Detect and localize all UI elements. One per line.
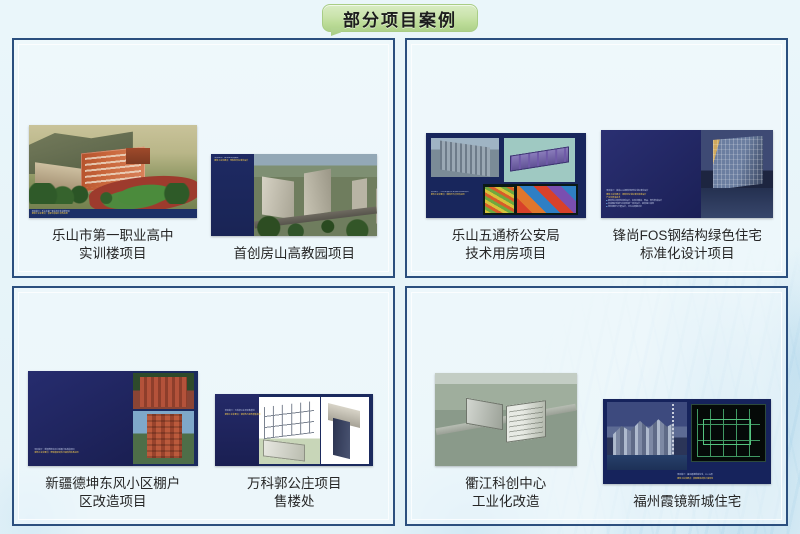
project-item[interactable]: 项目简介：乐山五通桥公安局技术用房项目 建筑工业化要点：钢结构节点分析应用 乐山… [418, 133, 594, 263]
project-item[interactable]: 项目简介：新疆德坤东风小区棚户区改造项目 建筑工业化要点：预制装配式剪力墙结构体… [25, 371, 201, 511]
project-item[interactable]: 项目概况：首创房山高教园 建筑工业化要点：预制构件标准化设计 首创房山高教园项目 [207, 154, 383, 263]
project-caption: 万科郭公庄项目 售楼处 [247, 475, 342, 511]
residential-photo-bottom [133, 411, 194, 464]
thumbnail-overlay-caption: 项目简介：万科郭公庄项目售楼处 建筑工业化要点：钢结构与组合楼板体系 [225, 410, 364, 417]
thumbnail-overlay-caption: 项目简介：乐山市第一职业高中实训楼项目 建筑工业化要点：装配式混凝土结构应用 [29, 209, 197, 219]
composite-beam-render [321, 397, 368, 463]
project-card-top-left[interactable]: 项目简介：乐山市第一职业高中实训楼项目 建筑工业化要点：装配式混凝土结构应用 乐… [12, 38, 395, 278]
xinjiang-dekun-dongfeng-shantytown-renovation-thumbnail[interactable]: 项目简介：新疆德坤东风小区棚户区改造项目 建筑工业化要点：预制装配式剪力墙结构体… [28, 371, 198, 466]
project-item[interactable]: 项目简介：锋尚FOS钢结构绿色住宅标准化设计 建筑工业化要点：钢结构住宅标准化体… [600, 130, 776, 263]
page-title: 部分项目案例 [343, 6, 457, 31]
project-item[interactable]: 项目简介：万科郭公庄项目售楼处 建筑工业化要点：钢结构与组合楼板体系 万科郭公庄… [207, 394, 383, 511]
tree-layer [29, 183, 197, 203]
crane-icon [672, 403, 674, 454]
vegetation-layer [254, 208, 377, 236]
school-training-building-rendering-thumbnail[interactable]: 项目简介：乐山市第一职业高中实训楼项目 建筑工业化要点：装配式混凝土结构应用 [29, 125, 197, 218]
steel-frame-3d-model-quadrant [504, 138, 574, 182]
project-card-bottom-right[interactable]: 衢江科创中心 工业化改造 项目简介：福州霞镜新城住宅，23~33层 建筑工业化要… [405, 286, 788, 526]
residential-skyline-photo [607, 402, 688, 470]
thumbnail-overlay-caption: 项目简介：福州霞镜新城住宅，23~33层 建筑工业化要点：装配整体式剪力墙结构 [677, 474, 766, 480]
quzhou-innovation-center-aerial-rendering-thumbnail[interactable] [435, 373, 577, 466]
fuzhou-xiajing-newtown-residence-cad-thumbnail[interactable]: 项目简介：福州霞镜新城住宅，23~33层 建筑工业化要点：装配整体式剪力墙结构 [603, 399, 771, 484]
project-caption: 乐山五通桥公安局 技术用房项目 [452, 227, 560, 263]
section-title-banner: 部分项目案例 [322, 4, 478, 32]
rear-building [126, 148, 150, 165]
project-item[interactable]: 项目简介：乐山市第一职业高中实训楼项目 建筑工业化要点：装配式混凝土结构应用 乐… [25, 125, 201, 263]
residential-photo-top [133, 373, 194, 409]
navy-text-panel: 项目简介：锋尚FOS钢结构绿色住宅标准化设计 建筑工业化要点：钢结构住宅标准化体… [601, 130, 701, 218]
vegetation-layer [435, 373, 577, 466]
glass-tower-photo [701, 130, 773, 218]
connection-analysis-quadrant [483, 184, 577, 215]
building-photo-quadrant [431, 138, 500, 177]
thumbnail-overlay-caption: 项目简介：乐山五通桥公安局技术用房项目 建筑工业化要点：钢结构节点分析应用 [431, 191, 481, 213]
project-card-grid: 项目简介：乐山市第一职业高中实训楼项目 建筑工业化要点：装配式混凝土结构应用 乐… [12, 38, 788, 526]
thumbnail-overlay-caption: 项目简介：锋尚FOS钢结构绿色住宅标准化设计 建筑工业化要点：钢结构住宅标准化体… [606, 190, 695, 209]
project-item[interactable]: 衢江科创中心 工业化改造 [418, 373, 594, 511]
vanke-guogongzhuang-sales-office-beam-thumbnail[interactable]: 项目简介：万科郭公庄项目售楼处 建筑工业化要点：钢结构与组合楼板体系 [215, 394, 373, 466]
navy-text-panel: 项目概况：首创房山高教园 建筑工业化要点：预制构件标准化设计 [211, 154, 254, 236]
structural-frame-sketch [259, 397, 319, 463]
project-caption: 衢江科创中心 工业化改造 [465, 475, 546, 511]
project-card-top-right[interactable]: 项目简介：乐山五通桥公安局技术用房项目 建筑工业化要点：钢结构节点分析应用 乐山… [405, 38, 788, 278]
thumbnail-overlay-caption: 项目简介：新疆德坤东风小区棚户区改造项目 建筑工业化要点：预制装配式剪力墙结构体… [35, 449, 127, 455]
project-caption: 新疆德坤东风小区棚户 区改造项目 [45, 475, 180, 511]
navy-text-panel [215, 394, 259, 466]
project-caption: 首创房山高教园项目 [234, 245, 356, 263]
wutongqiao-police-technical-building-composite-thumbnail[interactable]: 项目简介：乐山五通桥公安局技术用房项目 建筑工业化要点：钢结构节点分析应用 [426, 133, 586, 218]
project-caption: 锋尚FOS钢结构绿色住宅 标准化设计项目 [613, 227, 762, 263]
project-caption: 福州霞镜新城住宅 [633, 493, 741, 511]
fangshan-campus-aerial-rendering-thumbnail[interactable]: 项目概况：首创房山高教园 建筑工业化要点：预制构件标准化设计 [211, 154, 377, 236]
project-item[interactable]: 项目简介：福州霞镜新城住宅，23~33层 建筑工业化要点：装配整体式剪力墙结构 … [600, 399, 776, 511]
cad-floorplan-panel [691, 404, 767, 462]
project-card-bottom-left[interactable]: 项目简介：新疆德坤东风小区棚户区改造项目 建筑工业化要点：预制装配式剪力墙结构体… [12, 286, 395, 526]
project-caption: 乐山市第一职业高中 实训楼项目 [52, 227, 174, 263]
fos-steel-green-residence-tower-thumbnail[interactable]: 项目简介：锋尚FOS钢结构绿色住宅标准化设计 建筑工业化要点：钢结构住宅标准化体… [601, 130, 773, 218]
